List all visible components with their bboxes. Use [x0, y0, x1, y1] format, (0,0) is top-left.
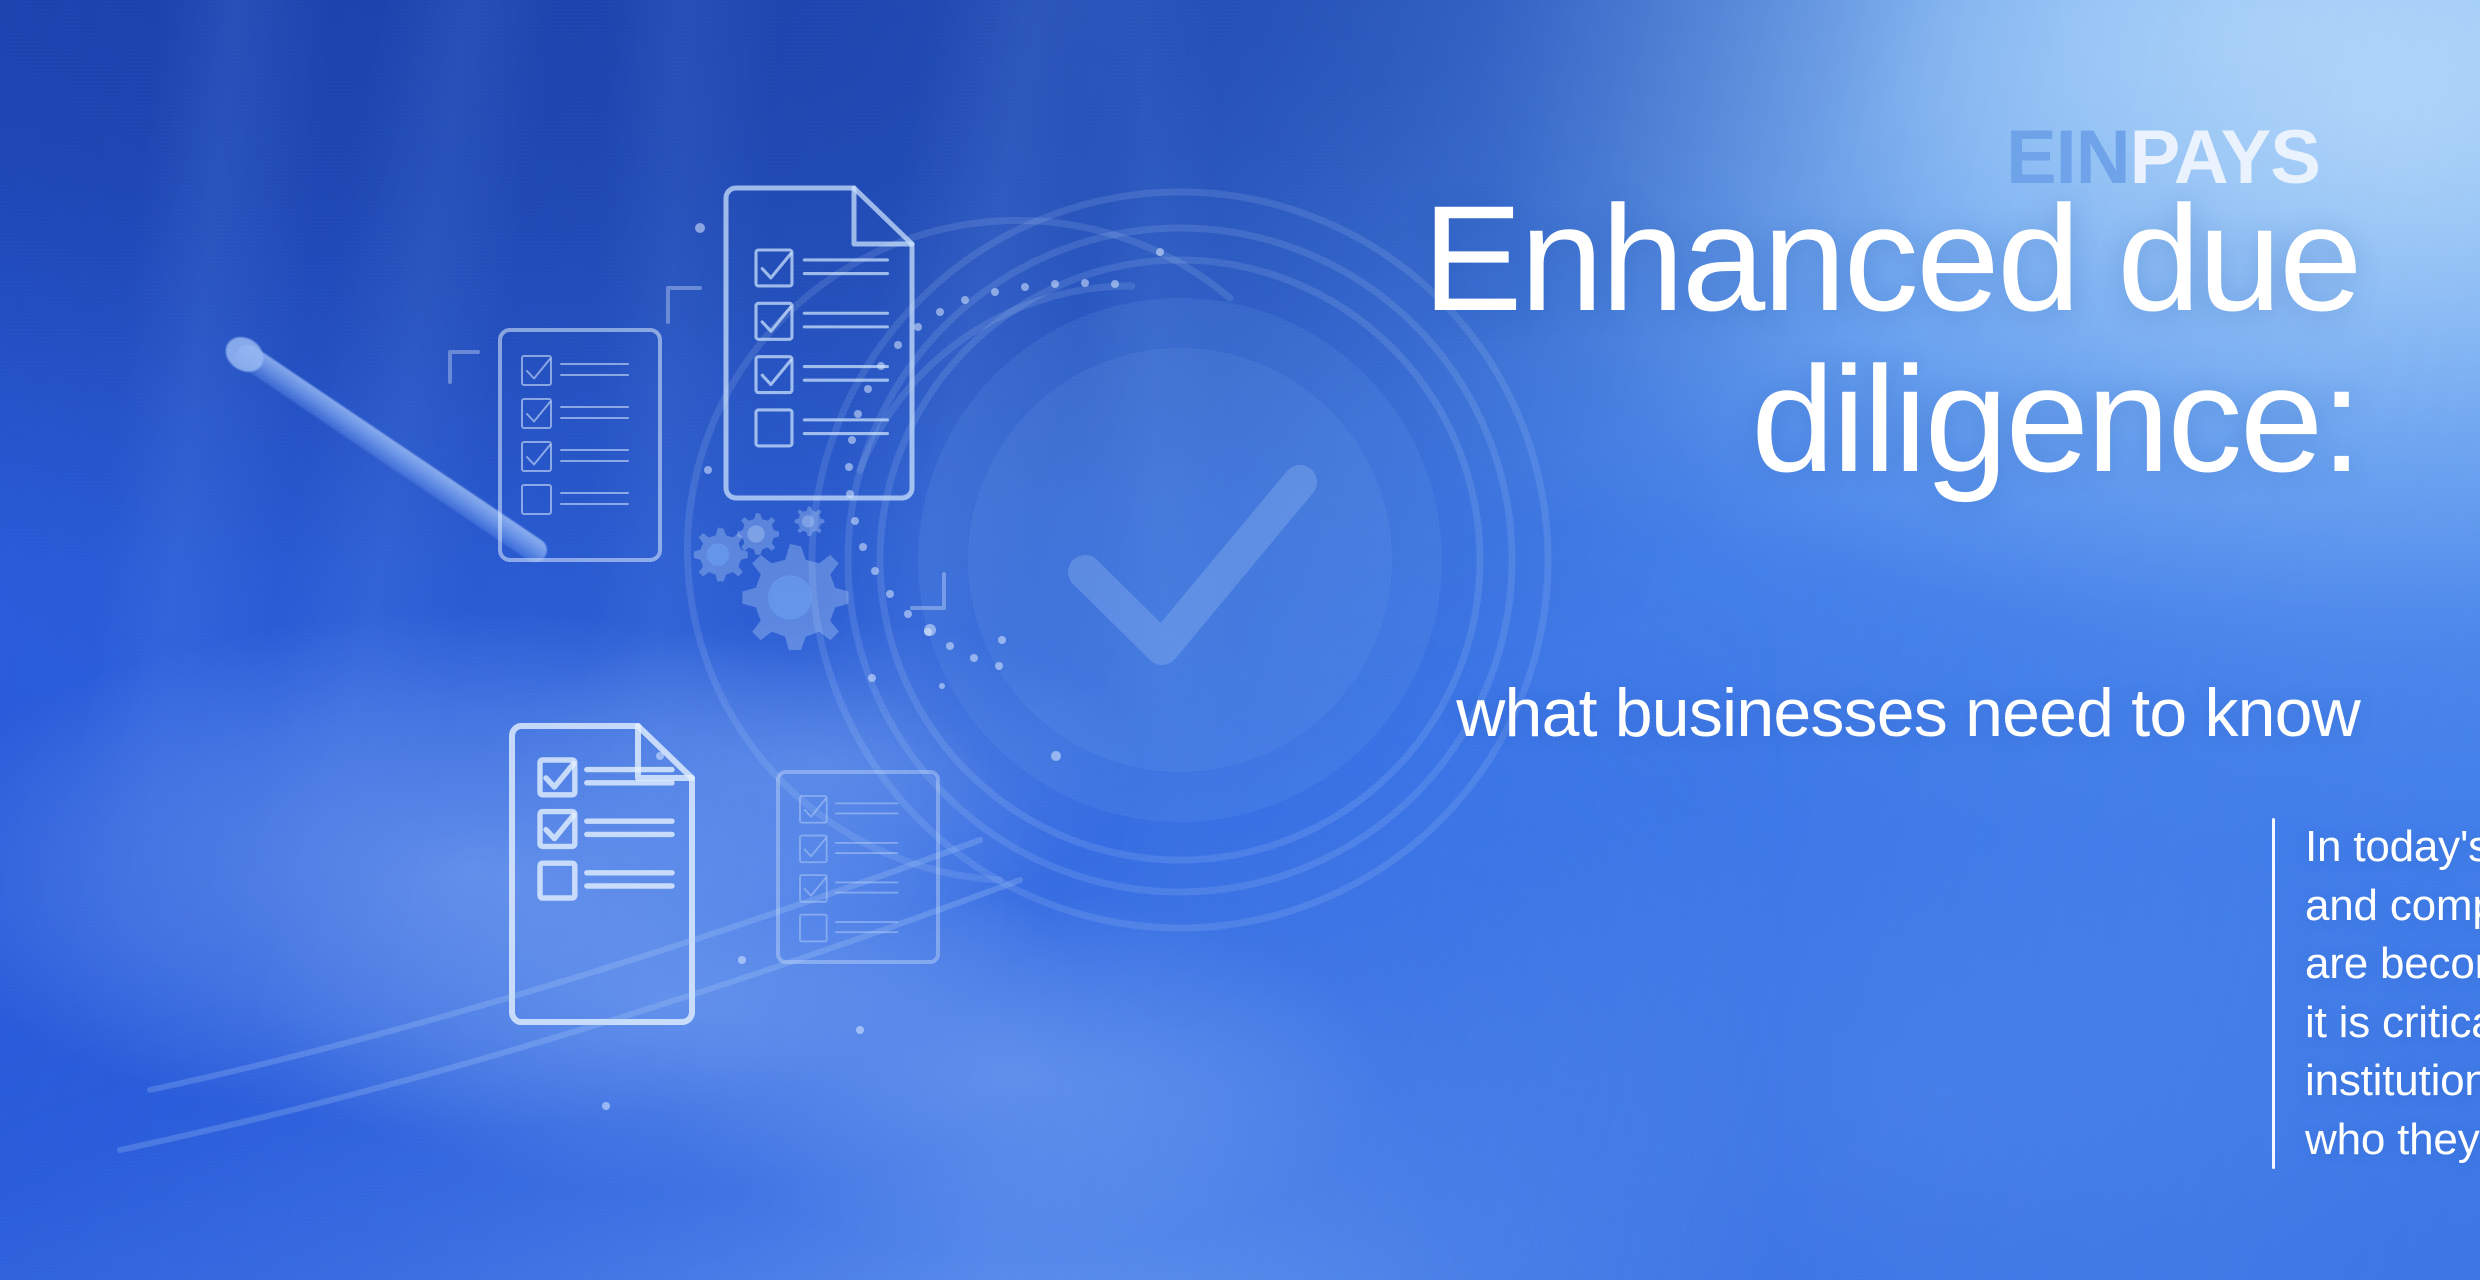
headline-line-1: Enhanced due	[1422, 174, 2360, 342]
page-subtitle: what businesses need to know	[980, 676, 2360, 751]
lede-line: In today's financial world, where fraud	[2305, 818, 2480, 877]
lede-paragraph: In today's financial world, where fraud …	[2275, 818, 2480, 1169]
lede-line: who they are doing business with	[2305, 1111, 2480, 1170]
headline-line-2: diligence:	[1751, 335, 2360, 503]
lede-line: are becoming increasingly sophisticated,	[2305, 935, 2480, 994]
lede-block: In today's financial world, where fraud …	[2272, 818, 2480, 1169]
lede-line: institutions and companies to know	[2305, 1052, 2480, 1111]
lede-vertical-rule	[2272, 818, 2275, 1169]
hero-banner: .ln { fill:none; stroke:#cfe4fd; stroke-…	[0, 0, 2480, 1280]
page-title: Enhanced due diligence:	[980, 178, 2360, 499]
lede-line: it is critically important for financial	[2305, 994, 2480, 1053]
lede-line: and complex international schemes	[2305, 877, 2480, 936]
hero-content: Enhanced due diligence: what businesses …	[920, 0, 2480, 1280]
